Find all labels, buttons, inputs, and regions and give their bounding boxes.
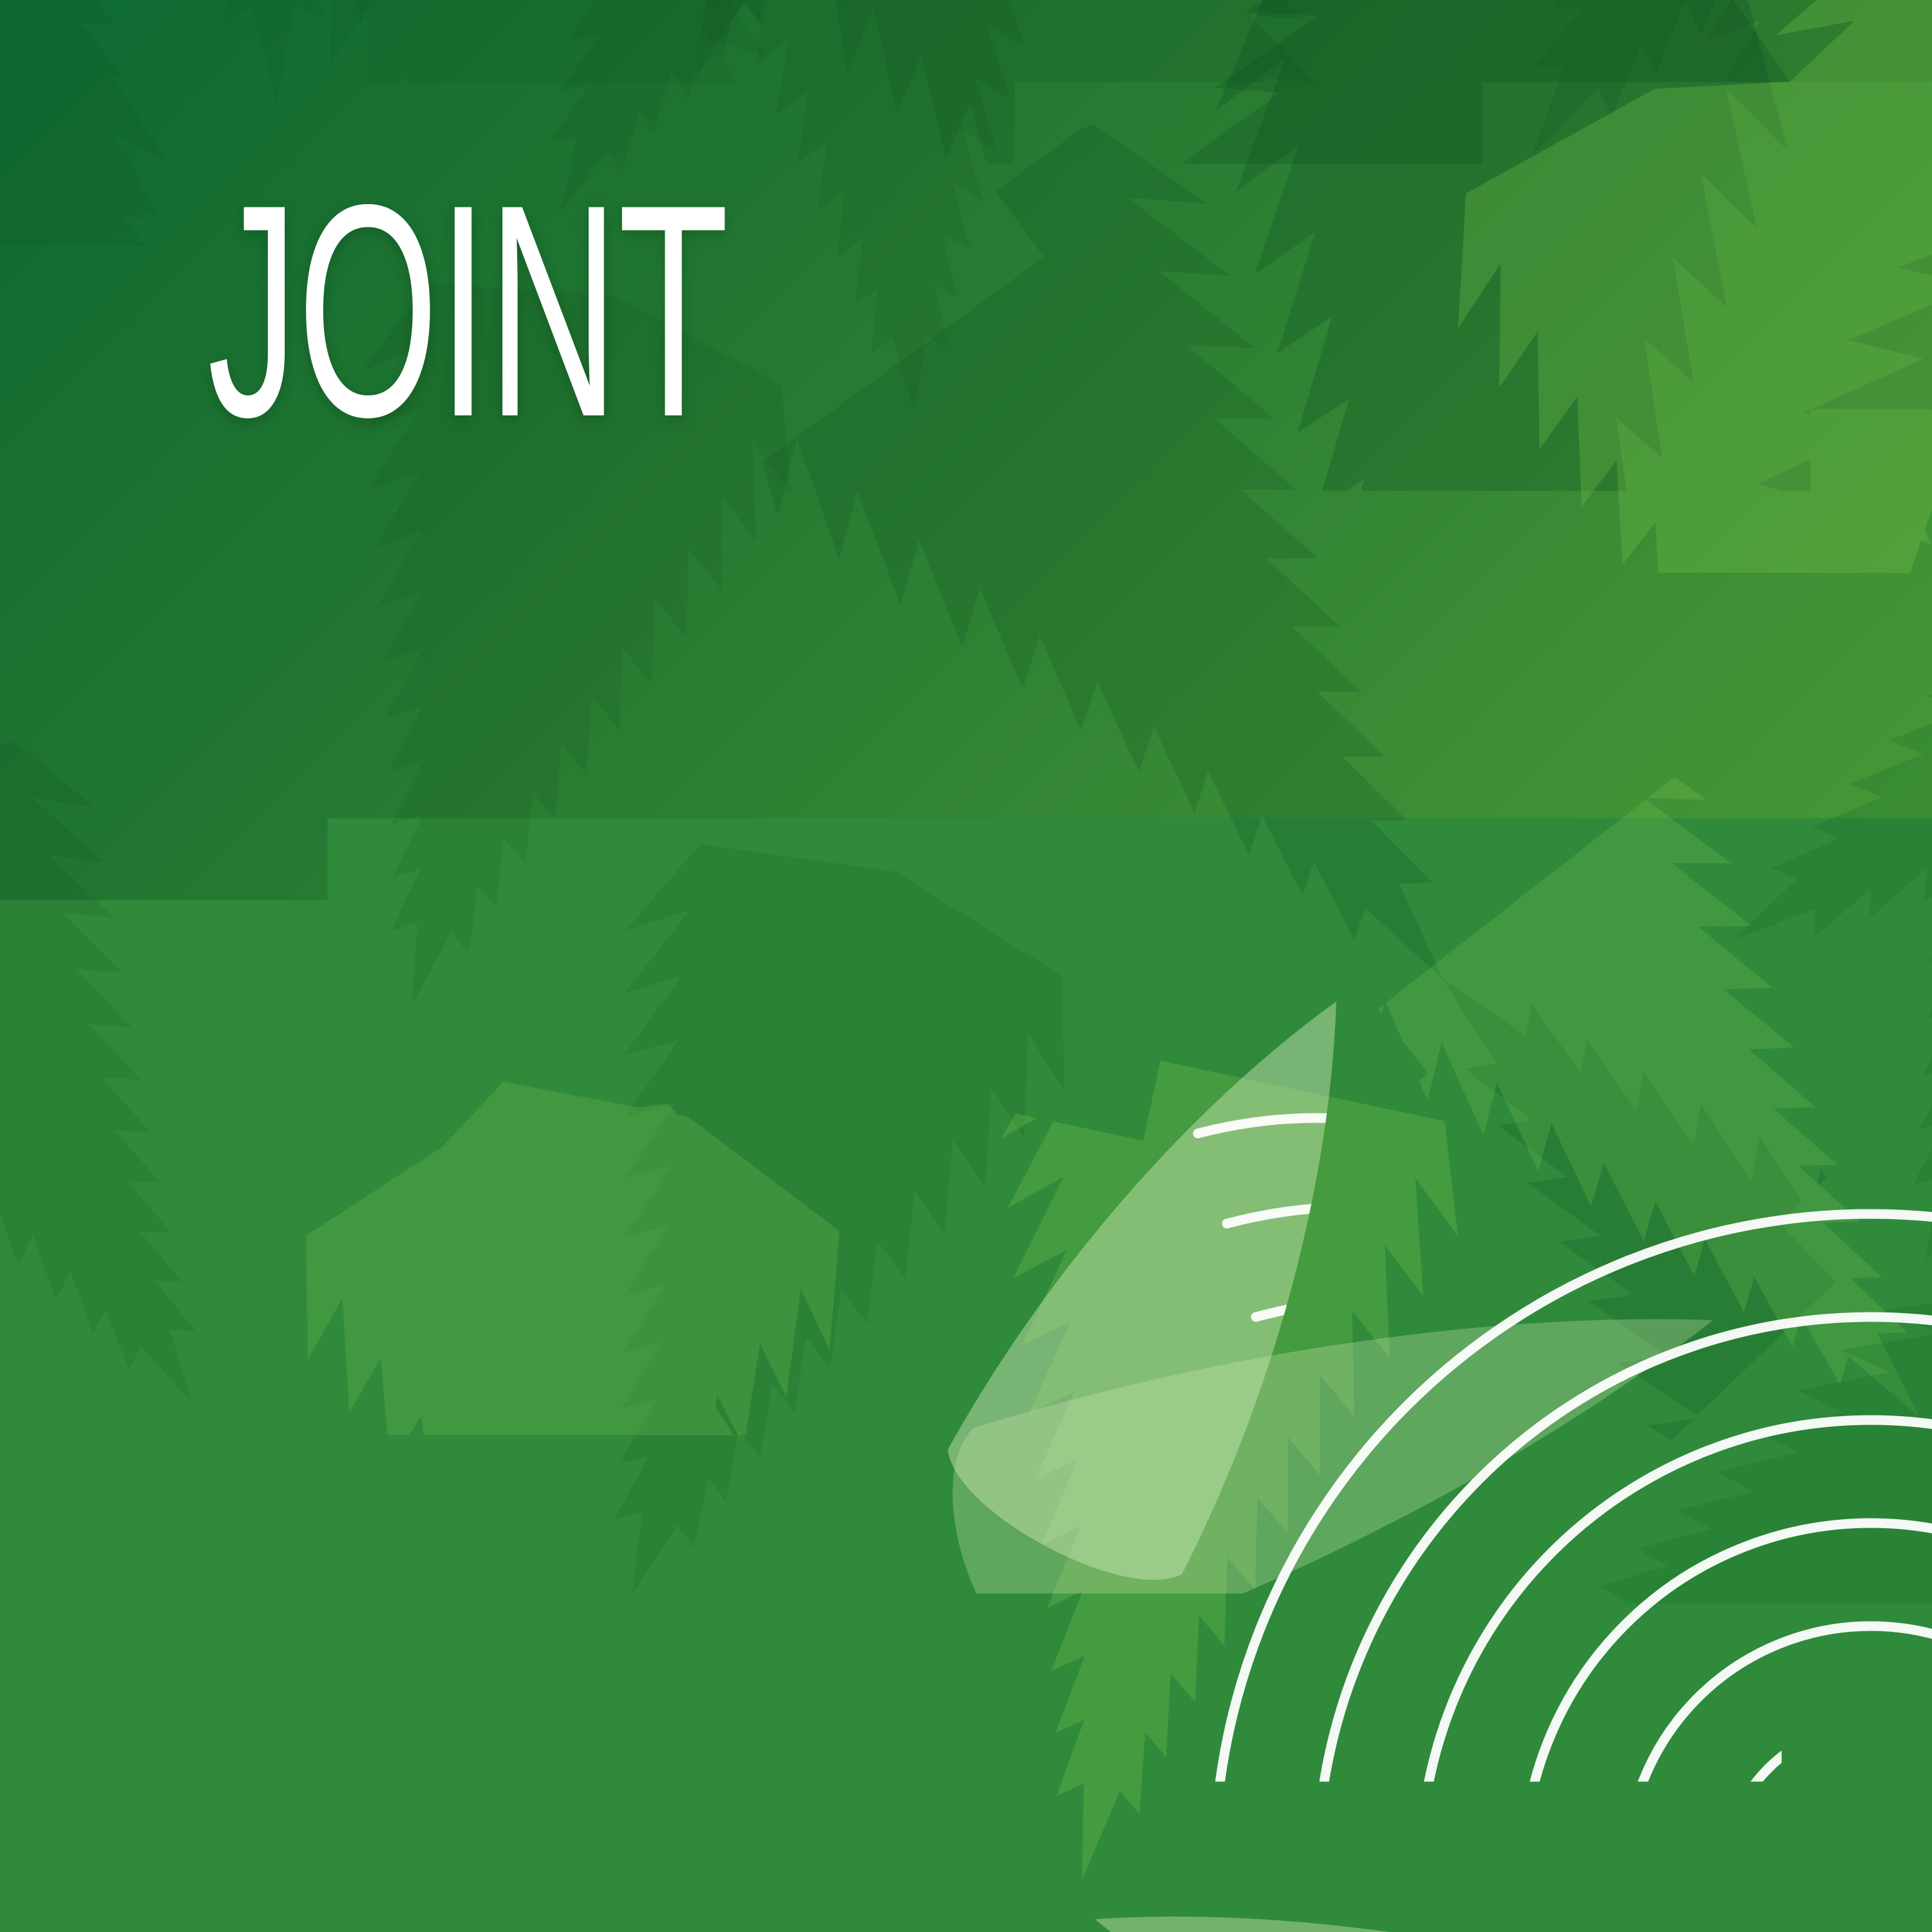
text-layer: JOINT SESSION Diverse Voices in NYS Cann… xyxy=(0,0,1932,1932)
guest-name: HERB BARBOT xyxy=(211,1557,895,1687)
subtitle-line-1: Diverse Voices in xyxy=(213,1227,859,1346)
subtitle-line-2: NYS Cannabis with xyxy=(213,1385,940,1504)
podcast-cover-art: JOINT SESSION Diverse Voices in NYS Cann… xyxy=(0,0,1932,1932)
title-line-session: SESSION xyxy=(207,570,1009,806)
title-line-joint: JOINT xyxy=(207,193,728,430)
